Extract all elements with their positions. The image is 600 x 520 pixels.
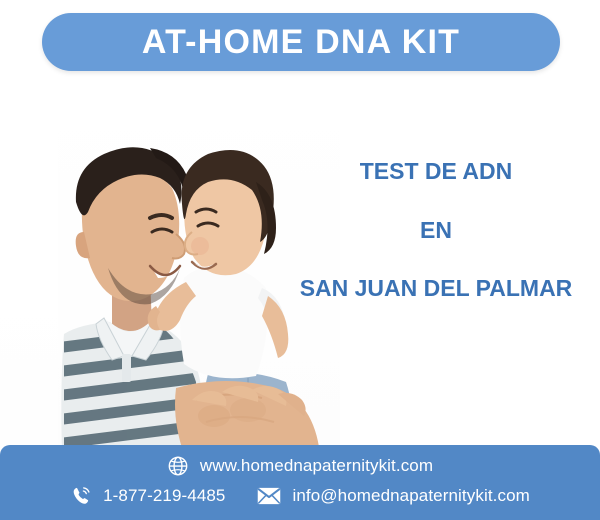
headline-line-1: TEST DE ADN [286,160,586,183]
contact-footer: www.homednapaternitykit.com 1-877-219-44… [0,445,600,520]
email-item[interactable]: info@homednapaternitykit.com [257,486,529,506]
website-label: www.homednapaternitykit.com [200,456,433,476]
header-pill: AT-HOME DNA KIT [42,13,560,71]
headline-line-2: EN [286,219,586,242]
page-title: AT-HOME DNA KIT [142,25,460,59]
website-item[interactable]: www.homednapaternitykit.com [167,455,433,477]
footer-row-phone-email: 1-877-219-4485 info@homednapaternitykit.… [0,485,600,507]
phone-item[interactable]: 1-877-219-4485 [70,485,225,507]
email-label: info@homednapaternitykit.com [292,486,529,506]
headline-block: TEST DE ADN EN SAN JUAN DEL PALMAR [286,160,586,300]
promo-poster: AT-HOME DNA KIT [0,0,600,520]
envelope-icon [257,486,281,506]
globe-icon [167,455,189,477]
footer-row-website: www.homednapaternitykit.com [0,455,600,477]
phone-icon [70,485,92,507]
headline-line-3: SAN JUAN DEL PALMAR [286,277,586,300]
phone-label: 1-877-219-4485 [103,486,225,506]
header-banner: AT-HOME DNA KIT [0,0,600,88]
